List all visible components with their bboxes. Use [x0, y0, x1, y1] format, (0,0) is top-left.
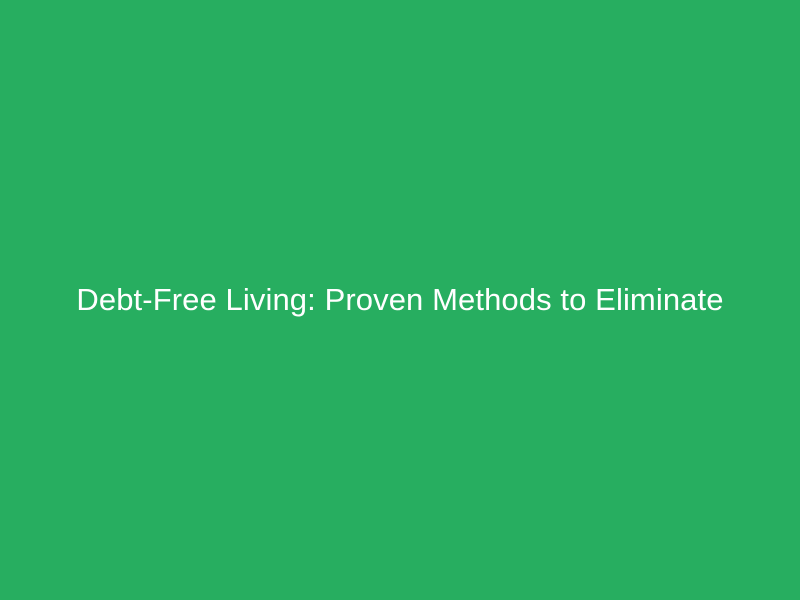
page-title: Debt-Free Living: Proven Methods to Elim…	[0, 281, 800, 320]
banner-card: Debt-Free Living: Proven Methods to Elim…	[0, 0, 800, 600]
